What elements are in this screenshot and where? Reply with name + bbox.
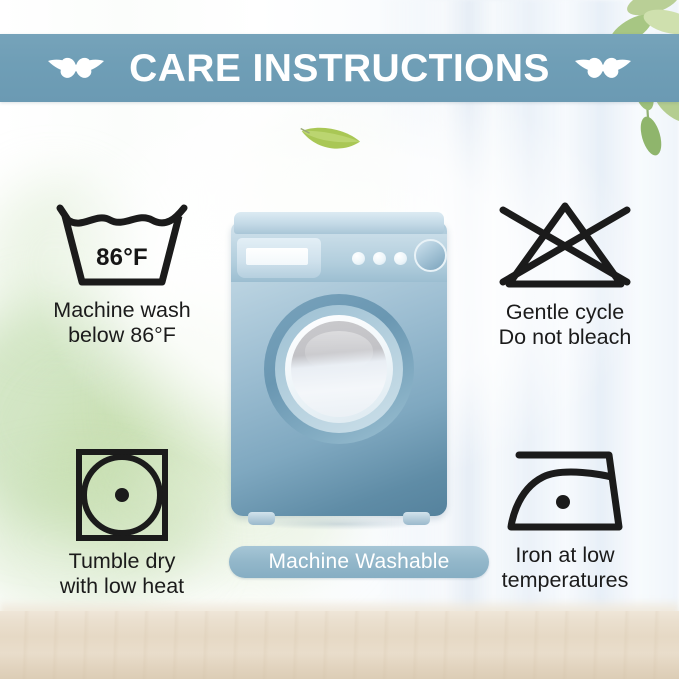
machine-washable-badge-label: Machine Washable [268,550,449,574]
triangle-crossed-out-icon [485,196,645,294]
page-title: CARE INSTRUCTIONS [129,49,550,88]
tumble-dry-square-circle-icon [74,447,170,543]
wooden-table-surface [0,611,679,679]
indicator-dot [373,252,386,265]
machine-foot [248,512,275,525]
door-glass [291,321,387,417]
care-symbol-caption: Iron at low temperatures [502,543,629,594]
fleur-de-lis-icon [45,48,107,88]
care-symbol-machine-wash: 86°F Machine wash below 86°F [22,196,222,349]
machine-top-lid [234,212,444,234]
program-selector-knob [414,239,447,272]
care-symbol-tumble-dry: Tumble dry with low heat [24,447,220,600]
wash-tub-glyph-wrapper: 86°F [48,196,196,292]
tumble-dry-glyph-wrapper [74,447,170,543]
door-glass-sheen [305,331,373,371]
care-instructions-infographic: CARE INSTRUCTIONS 86°F Machine wash belo… [0,0,679,679]
iron-glyph-wrapper [501,447,629,537]
porthole-door [264,294,414,444]
wood-grain [0,611,679,679]
indicator-dot [352,252,365,265]
machine-foot [403,512,430,525]
care-symbol-caption: Gentle cycle Do not bleach [499,300,632,351]
header-banner: CARE INSTRUCTIONS [0,34,679,102]
care-symbol-caption: Tumble dry with low heat [60,549,184,600]
care-symbol-gentle-cycle-no-bleach: Gentle cycle Do not bleach [460,196,670,351]
indicator-dot [394,252,407,265]
care-symbol-caption: Machine wash below 86°F [53,298,190,349]
iron-one-dot-icon [501,447,629,537]
washing-machine-illustration [231,212,447,524]
machine-washable-badge: Machine Washable [229,546,489,578]
bleach-glyph-wrapper [485,196,645,294]
wash-temperature-label: 86°F [48,244,196,272]
door-inner-ring [285,315,393,423]
care-symbol-iron-low: Iron at low temperatures [460,447,670,594]
door-mid-ring [275,305,403,433]
detergent-drawer-slot [246,248,308,265]
fleur-de-lis-icon [572,48,634,88]
